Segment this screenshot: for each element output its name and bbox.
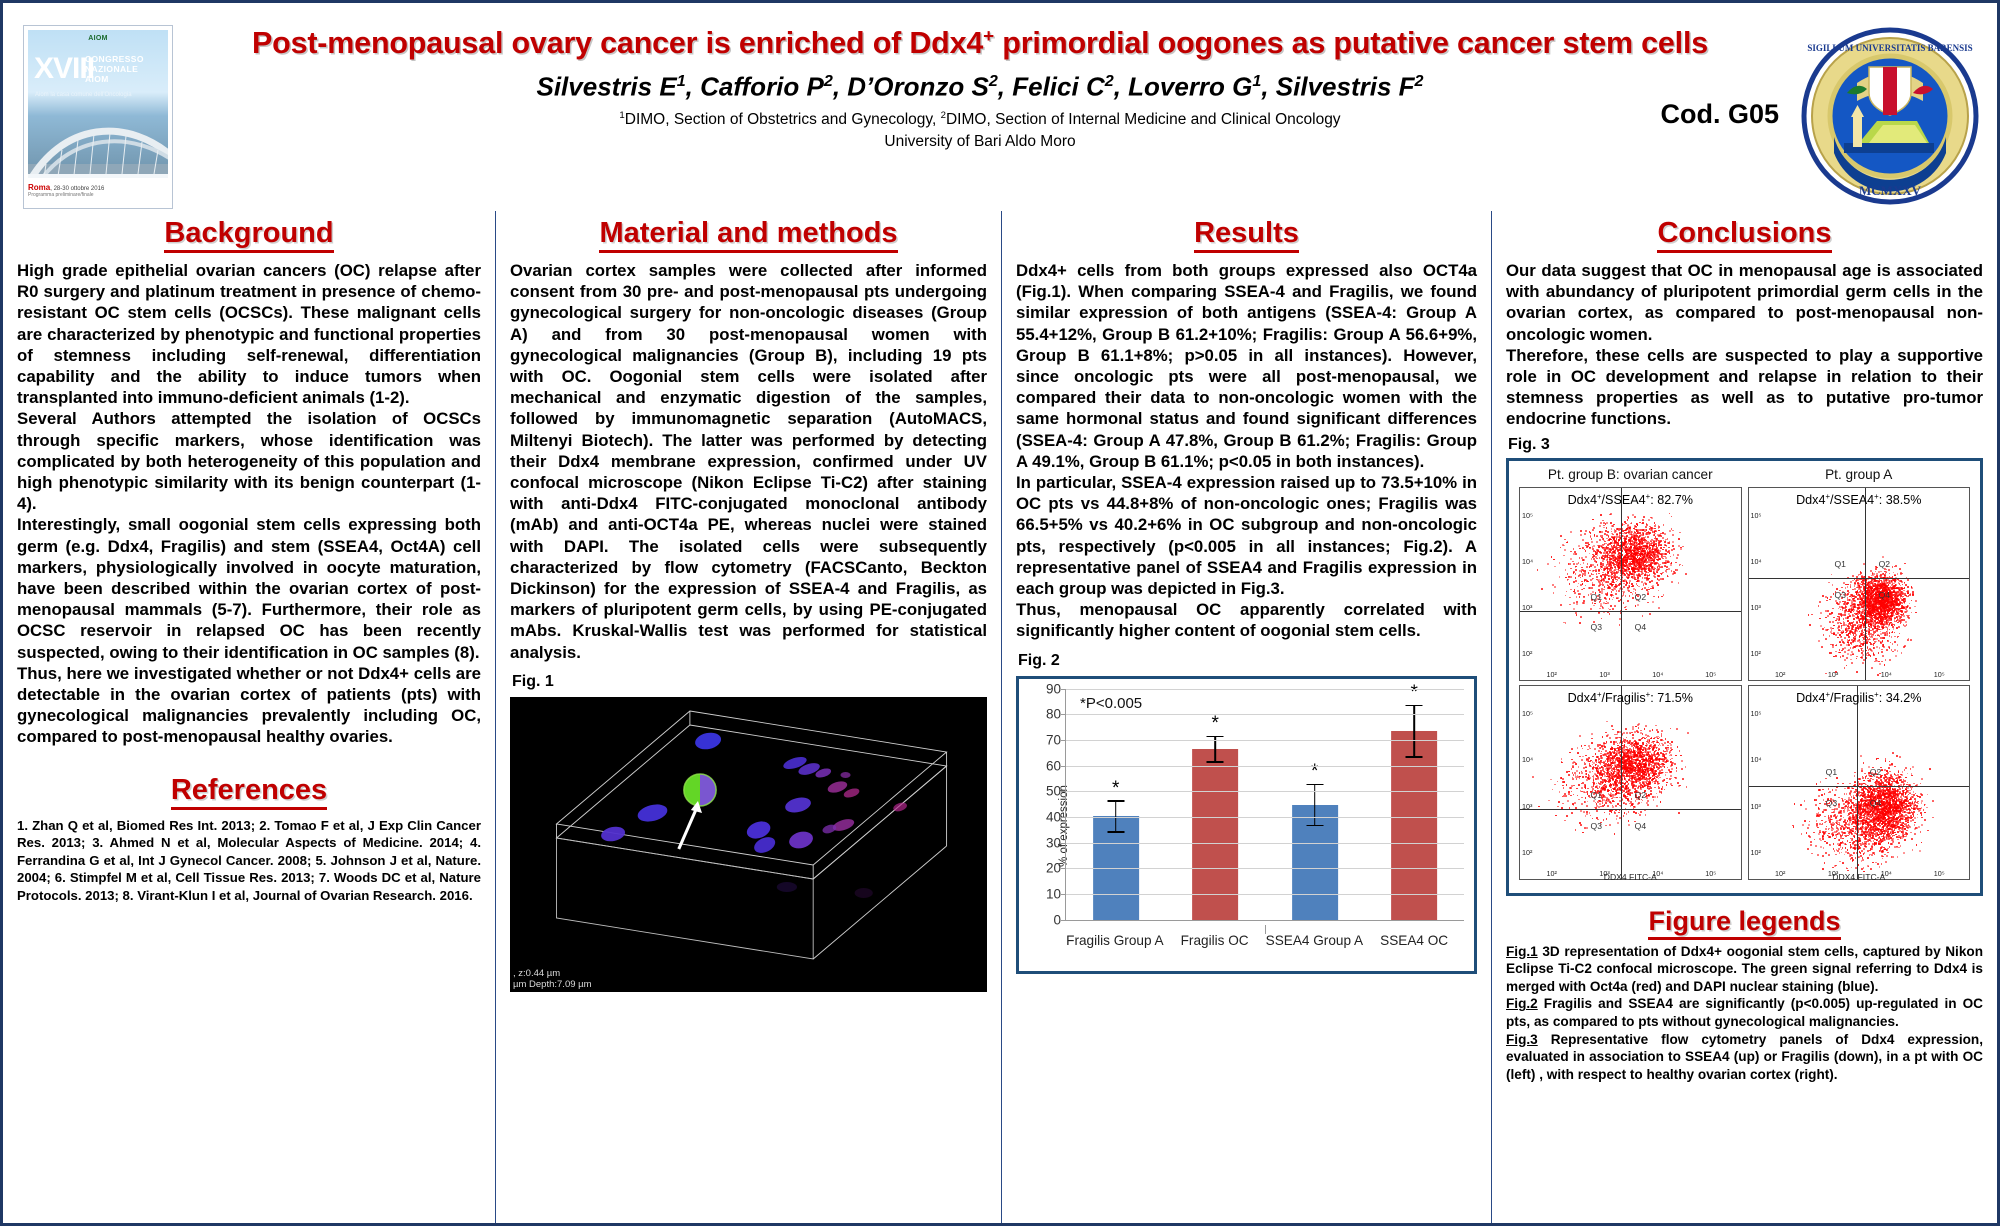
flow-data-point (1903, 619, 1905, 621)
flow-data-point (1908, 605, 1910, 607)
flow-data-point (1602, 572, 1604, 574)
flow-data-point (1822, 628, 1824, 630)
flow-data-point (1904, 601, 1906, 603)
flow-data-point (1632, 597, 1634, 599)
flow-data-point (1608, 575, 1610, 577)
flow-data-point (1856, 656, 1858, 658)
flow-data-point (1908, 617, 1910, 619)
flow-data-point (1861, 656, 1863, 658)
flow-data-point (1658, 607, 1660, 609)
flow-data-point (1675, 562, 1677, 564)
flow-data-point (1595, 556, 1597, 558)
flow-data-point (1617, 579, 1619, 581)
flow-data-point (1635, 605, 1637, 607)
flow-data-point (1600, 514, 1602, 516)
flow-x-tick-label: 10³ (1599, 670, 1609, 679)
flow-data-point (1582, 575, 1584, 577)
flow-y-tick-label: 10⁵ (1522, 511, 1533, 520)
flow-data-point (1606, 527, 1608, 529)
background-paragraph-1: High grade epithelial ovarian cancers (O… (17, 260, 481, 408)
flow-data-point (1898, 615, 1900, 617)
flow-data-point (1643, 550, 1645, 552)
flow-data-point (1661, 566, 1663, 568)
flow-data-point (1573, 602, 1575, 604)
flow-data-point (1564, 549, 1566, 551)
flow-data-point (1570, 551, 1572, 553)
flow-data-point (1830, 631, 1832, 633)
flow-data-point (1838, 625, 1840, 627)
flow-data-point (1625, 569, 1627, 571)
flow-data-point (1883, 644, 1885, 646)
flow-data-point (1897, 622, 1899, 624)
flow-data-point (1584, 579, 1586, 581)
flow-data-point (1654, 549, 1656, 551)
poster-columns: Background High grade epithelial ovarian… (3, 211, 1997, 1223)
flow-x-tick-label: 10² (1775, 670, 1785, 679)
flow-data-point (1652, 568, 1654, 570)
flow-data-point (1602, 606, 1604, 608)
flow-data-point (1910, 593, 1912, 595)
flow-data-point (1585, 585, 1587, 587)
flow-data-point (1603, 527, 1605, 529)
flow-data-point (1584, 533, 1586, 535)
flow-data-point (1604, 597, 1606, 599)
conclusions-paragraph-2: Therefore, these cells are suspected to … (1506, 345, 1983, 430)
flow-quadrant-label: Q2 (1635, 592, 1646, 602)
flow-data-point (1605, 732, 1607, 734)
flow-data-point (1870, 623, 1872, 625)
flow-data-point (1623, 586, 1625, 588)
page-title: Post-menopausal ovary cancer is enriched… (188, 19, 1772, 61)
flow-data-point (1685, 573, 1687, 575)
flow-data-point (1603, 552, 1605, 554)
flow-data-point (1859, 607, 1861, 609)
flow-data-point (1862, 662, 1864, 664)
flow-data-point (1894, 649, 1896, 651)
flow-data-point (1905, 621, 1907, 623)
chart-error-bar (1314, 784, 1316, 825)
flow-data-point (1619, 624, 1621, 626)
flow-data-point (1870, 655, 1872, 657)
results-paragraph-1: Ddx4+ cells from both groups expressed a… (1016, 260, 1477, 472)
flow-data-point (1862, 582, 1864, 584)
flow-data-point (1657, 559, 1659, 561)
flow-data-point (1616, 598, 1618, 600)
flow-data-point (1648, 519, 1650, 521)
flow-data-point (1578, 545, 1580, 547)
flow-data-point (1570, 558, 1572, 560)
flow-data-point (1884, 605, 1886, 607)
flow-data-point (1873, 654, 1875, 656)
flow-data-point (1633, 569, 1635, 571)
flow-data-point (1608, 565, 1610, 567)
chart-x-tick-label: Fragilis OC (1165, 925, 1265, 959)
flow-data-point (1617, 549, 1619, 551)
flow-data-point (1858, 604, 1860, 606)
flow-data-point (1606, 574, 1608, 576)
flow-data-point (1607, 531, 1609, 533)
flow-data-point (1632, 559, 1634, 561)
background-paragraph-4: Thus, here we investigated whether or no… (17, 663, 481, 748)
flow-data-point (1829, 635, 1831, 637)
flow-data-point (1897, 650, 1899, 652)
flow-data-point (1638, 529, 1640, 531)
flow-data-point (1626, 535, 1628, 537)
flow-data-point (1630, 531, 1632, 533)
flow-data-point (1894, 581, 1896, 583)
flow-data-point (1602, 538, 1604, 540)
flow-data-point (1820, 625, 1822, 627)
flow-data-point (1871, 667, 1873, 669)
flow-data-point (1582, 602, 1584, 604)
flow-data-point (1825, 617, 1827, 619)
flow-data-point (1623, 580, 1625, 582)
flow-data-point (1603, 612, 1605, 614)
flow-data-point (1653, 559, 1655, 561)
flow-data-point (1879, 647, 1881, 649)
flow-data-point (1637, 532, 1639, 534)
flow-data-point (1609, 598, 1611, 600)
flow-data-point (1632, 593, 1634, 595)
flow-data-point (1574, 592, 1576, 594)
column-results: Results Ddx4+ cells from both groups exp… (1002, 211, 1492, 1223)
flow-data-point (1910, 639, 1912, 641)
flow-data-point (1594, 603, 1596, 605)
flow-data-point (1648, 589, 1650, 591)
flow-data-point (1640, 534, 1642, 536)
flow-data-point (1878, 652, 1880, 654)
flow-data-point (1580, 534, 1582, 536)
flow-data-point (1653, 531, 1655, 533)
chart-gridline (1066, 894, 1464, 895)
flow-data-point (1863, 638, 1865, 640)
flow-data-point (1566, 591, 1568, 593)
congress-logo-footer: Roma, 28-30 ottobre 2016 Programma preli… (28, 183, 168, 205)
flow-data-point (1629, 595, 1631, 597)
flow-data-point (1895, 565, 1897, 567)
flow-data-point (1818, 605, 1820, 607)
flow-panel-title: Ddx4+/SSEA4+: 82.7% (1568, 492, 1693, 507)
flow-data-point (1878, 571, 1880, 573)
flow-data-point (1611, 581, 1613, 583)
flow-data-point (1837, 603, 1839, 605)
flow-data-point (1589, 553, 1591, 555)
flow-data-point (1822, 595, 1824, 597)
chart-gridline (1066, 791, 1464, 792)
flow-data-point (1579, 574, 1581, 576)
chart-bar-slot: * (1166, 689, 1266, 920)
flow-data-point (1869, 593, 1871, 595)
flow-data-point (1848, 613, 1850, 615)
flow-data-point (1577, 586, 1579, 588)
flow-data-point (1854, 606, 1856, 608)
flow-data-point (1853, 646, 1855, 648)
flow-data-point (1593, 550, 1595, 552)
flow-data-point (1842, 630, 1844, 632)
flow-data-point (1570, 531, 1572, 533)
flow-data-point (1886, 649, 1888, 651)
flow-data-point (1594, 535, 1596, 537)
flow-data-point (1655, 543, 1657, 545)
flow-data-point (1615, 530, 1617, 532)
flow-data-point (1672, 545, 1674, 547)
flow-data-point (1876, 630, 1878, 632)
flow-data-point (1541, 588, 1543, 590)
flow-data-point (1572, 561, 1574, 563)
author-sup-5: 1 (1252, 72, 1261, 90)
flow-data-point (1599, 539, 1601, 541)
flow-data-point (1886, 600, 1888, 602)
flow-data-point (1598, 613, 1600, 615)
flow-data-point (1892, 602, 1894, 604)
flow-panel: FRAGILIS PE-AQ1Q2Q3Q4Ddx4+/Fragilis+: 71… (1516, 683, 1745, 882)
flow-data-point (1635, 547, 1637, 549)
flow-data-point (1862, 654, 1864, 656)
flow-data-point (1839, 601, 1841, 603)
flow-data-point (1894, 574, 1896, 576)
flow-data-point (1901, 588, 1903, 590)
flow-data-point (1892, 651, 1894, 653)
flow-data-point (1615, 553, 1617, 555)
flow-data-point (1589, 547, 1591, 549)
chart-y-tick-mark (1061, 817, 1066, 818)
flow-data-point (1847, 650, 1849, 652)
congress-logo-image: AIOM XVIII CONGRESSO NAZIONALE AIOM Aiom… (28, 30, 168, 178)
flow-data-point (1650, 559, 1652, 561)
flow-data-point (1662, 562, 1664, 564)
flow-data-point (1872, 636, 1874, 638)
confocal-depth-value: µm Depth:7.09 µm (513, 979, 592, 990)
affiliations: 1DIMO, Section of Obstetrics and Gynecol… (188, 105, 1772, 130)
flow-data-point (1846, 634, 1848, 636)
chart-bar-slot: * (1265, 689, 1365, 920)
flow-data-point (1907, 639, 1909, 641)
flow-data-point (1876, 575, 1878, 577)
flow-data-point (1849, 632, 1851, 634)
flow-data-point (1570, 589, 1572, 591)
flow-data-point (1587, 542, 1589, 544)
title-block: Post-menopausal ovary cancer is enriched… (188, 19, 1772, 152)
chart-x-axis-labels: Fragilis Group AFragilis OCSSEA4 Group A… (1065, 925, 1464, 959)
flow-data-point (1856, 671, 1858, 673)
flow-data-point (1833, 617, 1835, 619)
flow-data-point (1832, 628, 1834, 630)
flow-data-point (1644, 529, 1646, 531)
flow-data-point (1669, 513, 1671, 515)
flow-data-point (1904, 593, 1906, 595)
flow-data-point (1585, 550, 1587, 552)
flow-data-point (1903, 615, 1905, 617)
flow-data-point (1862, 606, 1864, 608)
flow-data-point (1887, 634, 1889, 636)
flow-data-point (1643, 516, 1645, 518)
flow-data-point (1585, 530, 1587, 532)
flow-data-point (1848, 649, 1850, 651)
flow-data-point (1601, 588, 1603, 590)
flow-data-point (1595, 570, 1597, 572)
flow-x-tick-label: 10³ (1828, 670, 1838, 679)
flow-data-point (1898, 636, 1900, 638)
flow-scatter-plot: Q1Q2Q3Q4Ddx4+/Fragilis+: 71.5%10²10³10⁴1… (1519, 685, 1742, 880)
bridge-arch-icon (28, 104, 168, 178)
flow-quadrant-vertical-line (1865, 488, 1866, 681)
page-title-superscript: + (983, 26, 994, 47)
flow-data-point (1575, 580, 1577, 582)
flow-data-point (1888, 605, 1890, 607)
section-heading-conclusions: Conclusions (1506, 217, 1983, 250)
references-text: 1. Zhan Q et al, Biomed Res Int. 2013; 2… (17, 817, 481, 905)
flow-data-point (1886, 611, 1888, 613)
flow-data-point (1860, 646, 1862, 648)
flow-data-point (1625, 551, 1627, 553)
flow-data-point (1837, 637, 1839, 639)
flow-data-point (1624, 591, 1626, 593)
flow-data-point (1591, 538, 1593, 540)
flow-data-point (1567, 573, 1569, 575)
flow-data-point (1627, 516, 1629, 518)
flow-data-point (1905, 584, 1907, 586)
flow-data-point (1821, 646, 1823, 648)
flow-data-point (1624, 607, 1626, 609)
flow-y-tick-label: 10⁴ (1522, 557, 1533, 566)
flow-data-point (1631, 577, 1633, 579)
flow-data-point (1599, 525, 1601, 527)
flow-data-point (1911, 600, 1913, 602)
flow-data-point (1574, 551, 1576, 553)
flow-quadrant-label: Q1 (1591, 592, 1602, 602)
chart-error-bar (1413, 705, 1415, 756)
flow-data-point (1912, 595, 1914, 597)
flow-data-point (1647, 602, 1649, 604)
flow-data-point (1900, 573, 1902, 575)
flow-data-point (1854, 585, 1856, 587)
flow-data-point (1671, 516, 1673, 518)
chart-gridline (1066, 766, 1464, 767)
flow-data-point (1565, 595, 1567, 597)
flow-data-point (1855, 613, 1857, 615)
flow-data-point (1829, 613, 1831, 615)
flow-data-point (1870, 620, 1872, 622)
flow-data-point (1906, 596, 1908, 598)
flow-data-point (1573, 553, 1575, 555)
section-heading-results: Results (1016, 217, 1477, 250)
flow-data-point (1891, 636, 1893, 638)
flow-data-point (1839, 634, 1841, 636)
flow-data-point (1882, 556, 1884, 558)
flow-data-point (1678, 582, 1680, 584)
flow-data-point (1547, 563, 1549, 565)
university-name: University of Bari Aldo Moro (188, 131, 1772, 152)
flow-data-point (1901, 599, 1903, 601)
flow-data-point (1629, 527, 1631, 529)
chart-error-cap (1107, 831, 1124, 833)
flow-data-point (1676, 569, 1678, 571)
flow-data-point (1893, 572, 1895, 574)
flow-data-point (1537, 569, 1539, 571)
flow-data-point (1649, 613, 1651, 615)
flow-data-point (1841, 627, 1843, 629)
section-heading-methods: Material and methods (510, 217, 987, 250)
flow-data-point (1873, 644, 1875, 646)
chart-y-tick-label: 80 (1046, 707, 1061, 722)
poster-code: Cod. G05 (1660, 99, 1779, 130)
chart-y-tick-mark (1061, 920, 1066, 921)
flow-data-point (1650, 570, 1652, 572)
flow-data-point (1879, 663, 1881, 665)
flow-data-point (1668, 550, 1670, 552)
chart-y-tick-label: 20 (1046, 861, 1061, 876)
flow-data-point (1597, 554, 1599, 556)
flow-data-point (1603, 589, 1605, 591)
flow-data-point (1580, 616, 1582, 618)
flow-data-point (1853, 598, 1855, 600)
flow-data-point (1612, 589, 1614, 591)
flow-data-point (1886, 623, 1888, 625)
flow-data-point (1592, 541, 1594, 543)
flow-data-point (1829, 599, 1831, 601)
flow-quadrant-label: Q3 (1834, 590, 1845, 600)
flow-data-point (1649, 581, 1651, 583)
flow-data-point (1635, 534, 1637, 536)
flow-data-point (1672, 530, 1674, 532)
flow-data-point (1570, 568, 1572, 570)
flow-data-point (1563, 545, 1565, 547)
flow-data-point (1633, 572, 1635, 574)
flow-data-point (1850, 659, 1852, 661)
flow-data-point (1560, 547, 1562, 549)
flow-data-point (1630, 573, 1632, 575)
flow-data-point (1597, 564, 1599, 566)
flow-x-tick-label: 10⁵ (1934, 670, 1945, 679)
flow-data-point (1602, 582, 1604, 584)
flow-data-point (1580, 530, 1582, 532)
flow-data-point (1632, 585, 1634, 587)
flow-data-point (1614, 605, 1616, 607)
flow-data-point (1576, 614, 1578, 616)
flow-data-point (1574, 589, 1576, 591)
chart-error-cap (1207, 761, 1224, 763)
flow-data-point (1859, 596, 1861, 598)
flow-y-tick-label: 10⁵ (1751, 511, 1762, 520)
flow-data-point (1844, 614, 1846, 616)
flow-data-point (1587, 563, 1589, 565)
flow-data-point (1680, 755, 1682, 757)
flow-data-point (1826, 600, 1828, 602)
chart-y-tick-mark (1061, 894, 1066, 895)
flow-data-point (1657, 584, 1659, 586)
flow-data-point (1889, 659, 1891, 661)
flow-quadrant-vertical-line (1621, 488, 1622, 681)
flow-data-point (1885, 659, 1887, 661)
flow-x-tick-label: 10² (1546, 670, 1556, 679)
flow-data-point (1625, 595, 1627, 597)
flow-data-point (1849, 630, 1851, 632)
flow-data-point (1679, 532, 1681, 534)
flow-data-point (1827, 615, 1829, 617)
flow-data-point (1874, 620, 1876, 622)
confocal-scale-overlay: , z:0.44 µm µm Depth:7.09 µm (513, 968, 592, 990)
flow-data-point (1682, 546, 1684, 548)
flow-data-point (1906, 624, 1908, 626)
figure-1-label: Fig. 1 (512, 673, 987, 691)
flow-data-point (1662, 549, 1664, 551)
flow-data-point (1592, 574, 1594, 576)
flow-data-point (1560, 535, 1562, 537)
chart-y-tick-label: 10 (1046, 886, 1061, 901)
flow-data-point (1894, 624, 1896, 626)
flow-data-point (1846, 657, 1848, 659)
flow-data-point (1610, 605, 1612, 607)
